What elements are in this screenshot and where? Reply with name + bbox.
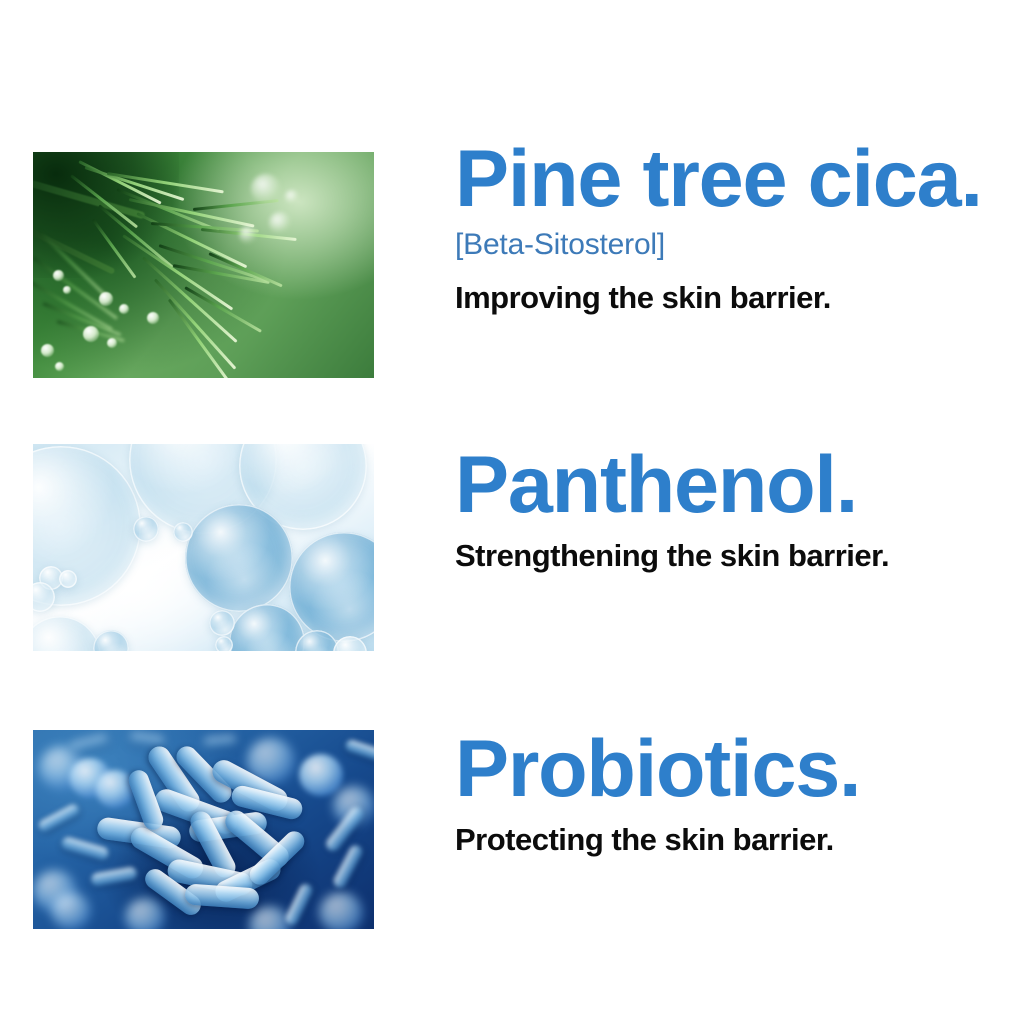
bacteria-rod-icon <box>90 866 138 887</box>
water-bubbles-image <box>33 444 374 651</box>
bacteria-rod-icon <box>37 802 81 833</box>
ingredient-title: Panthenol. <box>455 446 1024 525</box>
ingredient-title: Pine tree cica. <box>455 140 1024 219</box>
ingredient-inci-name: [Beta-Sitosterol] <box>455 227 1024 262</box>
bokeh-highlight <box>251 174 281 204</box>
water-bubbles-photo <box>33 444 374 651</box>
ingredient-copy-panthenol: Panthenol. Strengthening the skin barrie… <box>455 444 1024 573</box>
dew-drop-icon <box>107 338 117 348</box>
dew-drop-icon <box>83 326 99 342</box>
coccus-icon <box>125 898 165 929</box>
pine-needles-photo <box>33 152 374 378</box>
ingredient-benefit: Protecting the skin barrier. <box>455 823 1024 857</box>
ingredient-benefit: Strengthening the skin barrier. <box>455 539 1024 573</box>
ingredient-row-probiotics: Probiotics. Protecting the skin barrier. <box>0 730 1024 929</box>
probiotic-bacteria-photo <box>33 730 374 929</box>
ingredient-copy-probiotics: Probiotics. Protecting the skin barrier. <box>455 730 1024 857</box>
bubble-icon <box>33 616 101 651</box>
ingredient-copy-pine-tree-cica: Pine tree cica. [Beta-Sitosterol] Improv… <box>455 152 1024 315</box>
coccus-icon <box>299 754 343 796</box>
probiotic-bacteria-image <box>33 730 374 929</box>
bubble-icon <box>289 532 374 642</box>
coccus-icon <box>319 892 363 929</box>
bubble-icon <box>59 570 77 588</box>
bacteria-rod-icon <box>203 734 238 748</box>
dew-drop-icon <box>55 362 64 371</box>
pine-needle-icon <box>208 252 282 287</box>
bubble-icon <box>215 636 233 651</box>
bubble-icon <box>173 522 193 542</box>
ingredient-row-pine-tree-cica: Pine tree cica. [Beta-Sitosterol] Improv… <box>0 152 1024 378</box>
bubble-icon <box>93 630 129 651</box>
dew-drop-icon <box>99 292 113 306</box>
dew-drop-icon <box>119 304 129 314</box>
bacteria-rod-icon <box>344 738 374 761</box>
pine-needle-icon <box>42 302 121 336</box>
bubble-icon <box>133 516 159 542</box>
bacteria-rod-icon <box>284 882 315 927</box>
ingredient-benefit: Improving the skin barrier. <box>455 281 1024 315</box>
bokeh-highlight <box>285 190 299 204</box>
ingredient-benefits-infographic: Pine tree cica. [Beta-Sitosterol] Improv… <box>0 0 1024 1024</box>
bokeh-highlight <box>239 226 257 244</box>
bubble-icon <box>209 610 235 636</box>
coccus-icon <box>51 892 91 929</box>
dew-drop-icon <box>53 270 64 281</box>
pine-needles-image <box>33 152 374 378</box>
dew-drop-icon <box>41 344 54 357</box>
dew-drop-icon <box>147 312 159 324</box>
ingredient-title: Probiotics. <box>455 730 1024 809</box>
bubble-icon <box>185 504 293 612</box>
ingredient-row-panthenol: Panthenol. Strengthening the skin barrie… <box>0 444 1024 651</box>
bacteria-rod-icon <box>68 733 109 753</box>
dew-drop-icon <box>63 286 71 294</box>
bacteria-rod-icon <box>60 836 110 862</box>
bokeh-highlight <box>269 212 291 234</box>
